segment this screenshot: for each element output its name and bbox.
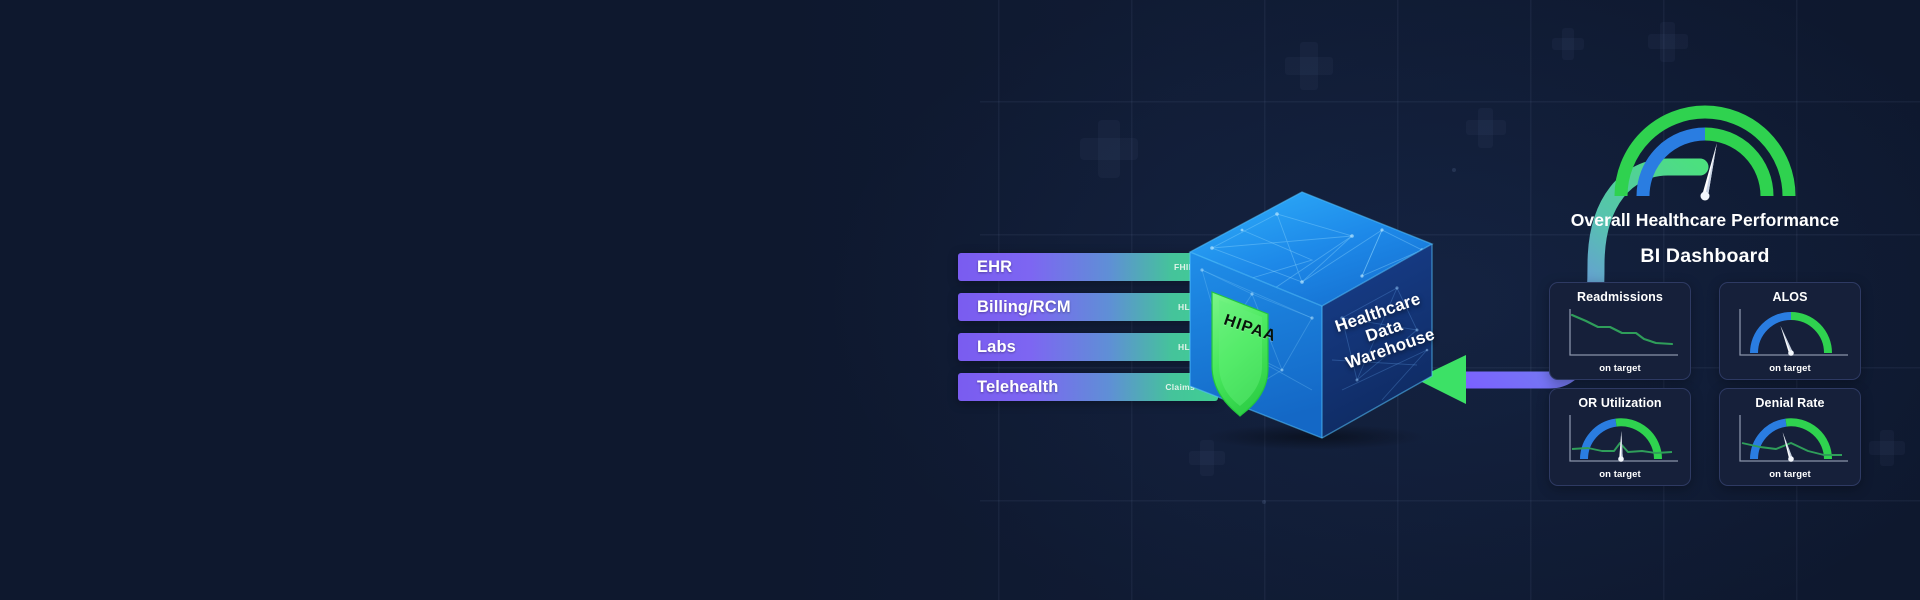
kpi-status: on target [1550,469,1690,480]
kpi-card-or-utilization[interactable]: OR Utilization on target [1549,388,1691,486]
dashboard-title: BI Dashboard [1540,245,1870,268]
kpi-status: on target [1550,363,1690,374]
data-source-label: Labs [977,338,1016,357]
data-source-label: EHR [977,258,1012,277]
kpi-status: on target [1720,363,1860,374]
dashboard-caption: Overall Healthcare Performance [1540,210,1870,231]
hero-illustration: EHR FHIR Billing/RCM HL7 Labs HL7 Telehe… [0,0,1920,600]
data-source-row[interactable]: EHR FHIR [958,253,1218,281]
data-source-row[interactable]: Telehealth Claims [958,373,1218,401]
data-warehouse-cube: HIPAA Healthcare Data Warehouse [1182,190,1450,460]
kpi-gauge [1720,303,1861,365]
kpi-card-alos[interactable]: ALOS on target [1719,282,1861,380]
kpi-title: OR Utilization [1550,396,1690,410]
kpi-card-grid: Readmissions on target ALOS [1549,282,1861,486]
overall-performance-gauge [1605,100,1805,210]
data-source-row[interactable]: Labs HL7 [958,333,1218,361]
kpi-line-chart [1550,303,1691,365]
medical-cross-icon [1562,28,1574,60]
kpi-title: Readmissions [1550,290,1690,304]
medical-cross-icon [1660,22,1675,62]
medical-cross-icon [1300,42,1318,90]
kpi-card-denial-rate[interactable]: Denial Rate on target [1719,388,1861,486]
kpi-gauge-with-line [1550,409,1691,471]
kpi-title: Denial Rate [1720,396,1860,410]
medical-cross-icon [1098,120,1120,178]
bi-dashboard: Overall Healthcare Performance BI Dashbo… [1540,100,1870,500]
kpi-card-readmissions[interactable]: Readmissions on target [1549,282,1691,380]
background-dot [1262,500,1266,504]
kpi-status: on target [1720,469,1860,480]
medical-cross-icon [1880,430,1894,466]
data-source-label: Billing/RCM [977,298,1071,317]
data-source-label: Telehealth [977,378,1058,397]
gauge-needle [1778,325,1793,353]
kpi-title: ALOS [1720,290,1860,304]
gauge-needle [1702,143,1719,197]
data-source-row[interactable]: Billing/RCM HL7 [958,293,1218,321]
data-source-list: EHR FHIR Billing/RCM HL7 Labs HL7 Telehe… [958,253,1218,413]
kpi-gauge-with-line [1720,409,1861,471]
